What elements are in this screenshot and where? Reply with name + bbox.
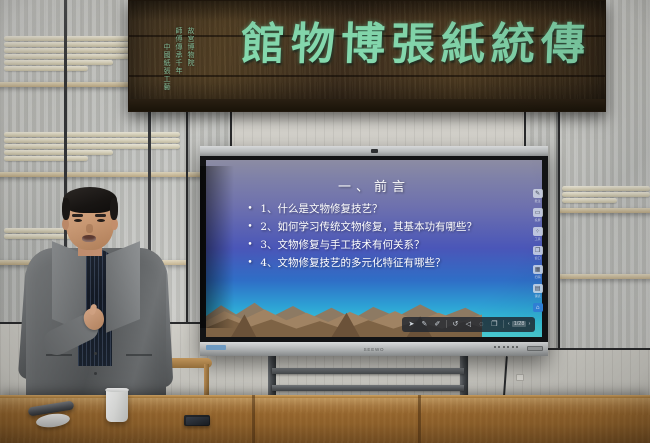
bullet-text: 2、如何学习传统文物修复，其基本功有哪些？ [260, 219, 522, 236]
side-toolbar-label: 投屏 [535, 218, 541, 222]
jacket-lapel-right [106, 241, 140, 333]
window-icon[interactable]: ❐ [533, 246, 543, 255]
presentation-slide[interactable]: 一、前言 • 1、什么是文物修复技艺？ • 2、如何学习传统文物修复，其基本功有… [206, 160, 542, 337]
table-reflection [0, 398, 650, 414]
paper-roll [4, 66, 89, 71]
wall-socket[interactable] [516, 374, 524, 381]
chair-arm-right [204, 364, 209, 398]
side-toolbar-item-cast[interactable]: ▭ 投屏 [532, 208, 543, 222]
smartphone[interactable] [184, 415, 210, 426]
paper-cup[interactable] [106, 388, 128, 422]
presenter-hair-side-right [110, 198, 118, 220]
side-toolbar-label: 扫码 [535, 275, 541, 279]
whiteboard-side-toolbar[interactable]: ✎ 批注 ▭ 投屏 ⁘ 工具 ❐ 窗口 ▦ 扫码 [532, 189, 543, 312]
cabinet-shelf [558, 208, 650, 213]
paper-roll [562, 186, 650, 191]
paper-roll [4, 132, 181, 137]
screen-icon[interactable]: ▭ [533, 208, 543, 217]
conference-table [0, 395, 650, 443]
presenter-eyebrow-left [72, 214, 83, 217]
status-led [512, 346, 514, 348]
toolbar-divider [503, 320, 504, 328]
whiteboard-bottom-bezel: SEEWO [200, 342, 548, 356]
slide-bullet-item: • 4、文物修复技艺的多元化特征有哪些？ [246, 255, 522, 272]
slide-bullet-item: • 3、文物修复与手工技术有何关系？ [246, 237, 522, 254]
side-toolbar-item-schedule[interactable]: ▤ 课表 [532, 284, 543, 298]
status-led [494, 346, 496, 348]
whiteboard-brand-label: SEEWO [364, 347, 385, 352]
next-page-button[interactable]: › [528, 321, 530, 327]
table-panel-seam [252, 395, 255, 443]
slide-bullet-item: • 2、如何学习传统文物修复，其基本功有哪些？ [246, 219, 522, 236]
status-led-group [494, 346, 519, 348]
paper-roll [562, 198, 617, 203]
jacket-button [94, 372, 97, 375]
jacket-button [94, 352, 97, 355]
presenter-mouth [82, 235, 96, 242]
presenter-nose [86, 224, 93, 233]
presenter-eye-right [97, 219, 105, 222]
home-icon[interactable]: ⌂ [533, 303, 543, 312]
inscription-column: 中國紙張工藝 [163, 43, 171, 91]
status-led [503, 346, 505, 348]
lecture-room-scene: 館物博張紙統傳 故宮博物院 師傅傳承千年 中國紙張工藝 一、前言 • 1、什么是… [0, 0, 650, 443]
undo-icon[interactable]: ↺ [451, 320, 460, 329]
paper-roll [4, 156, 89, 161]
presenter-torso [22, 248, 170, 410]
side-toolbar-label: 批注 [535, 199, 541, 203]
presenter-eyebrow-right [95, 214, 106, 217]
pen-icon[interactable]: ✎ [420, 320, 429, 329]
table-panel-seam [418, 395, 421, 443]
paper-roll [562, 192, 650, 197]
bullet-text: 1、什么是文物修复技艺？ [260, 201, 522, 218]
qrcode-icon[interactable]: ▦ [533, 265, 543, 274]
plaque-bottom-lip [128, 99, 606, 111]
capture-icon[interactable]: ❐ [490, 320, 499, 329]
museum-name-plaque: 館物博張紙統傳 故宮博物院 師傅傳承千年 中國紙張工藝 [128, 0, 606, 112]
prev-page-button[interactable]: ‹ [508, 321, 510, 327]
whiteboard-stand-rail-upper [272, 368, 464, 374]
bullet-marker-icon: • [246, 219, 260, 236]
camera-icon [371, 149, 378, 153]
pen-tool-icon[interactable]: ✎ [533, 189, 543, 198]
paper-roll [4, 150, 114, 155]
slide-bullet-item: • 1、什么是文物修复技艺？ [246, 201, 522, 218]
plaque-main-calligraphy: 館物博張紙統傳 [240, 19, 592, 71]
status-led [516, 346, 518, 348]
toolbar-divider [446, 320, 447, 328]
paper-roll-stack [4, 132, 181, 162]
presenter [22, 186, 170, 410]
cup-rim [105, 388, 129, 392]
cursor-icon[interactable]: ➤ [407, 320, 416, 329]
whiteboard-top-bezel [200, 146, 548, 156]
slide-bullet-list: • 1、什么是文物修复技艺？ • 2、如何学习传统文物修复，其基本功有哪些？ •… [246, 201, 522, 273]
whiteboard-stand-rail-lower [272, 385, 464, 391]
side-toolbar-label: 课表 [535, 294, 541, 298]
presenter-hair-side-left [62, 198, 70, 220]
bullet-text: 3、文物修复与手工技术有何关系？ [260, 237, 522, 254]
paper-roll [4, 144, 181, 149]
bullet-marker-icon: • [246, 201, 260, 218]
interactive-whiteboard[interactable]: 一、前言 • 1、什么是文物修复技艺？ • 2、如何学习传统文物修复，其基本功有… [200, 146, 548, 356]
page-navigator[interactable]: ‹ 1/28 › [508, 321, 530, 327]
side-toolbar-item-annotate[interactable]: ✎ 批注 [532, 189, 543, 203]
plaque-plank-seam [129, 75, 605, 77]
side-toolbar-label: 窗口 [535, 256, 541, 260]
side-toolbar-item-tools[interactable]: ⁘ 工具 [532, 227, 543, 241]
shapes-icon[interactable]: ◁ [464, 320, 473, 329]
paper-roll-stack [562, 186, 650, 204]
phone-screen[interactable] [186, 417, 209, 425]
bullet-marker-icon: • [246, 255, 260, 272]
cabinet-shelf [558, 274, 650, 279]
whiteboard-screen-frame: 一、前言 • 1、什么是文物修复技艺？ • 2、如何学习传统文物修复，其基本功有… [200, 156, 548, 342]
jacket-pocket-right [126, 354, 152, 356]
presenter-eye-left [74, 219, 82, 222]
side-toolbar-item-window[interactable]: ❐ 窗口 [532, 246, 543, 260]
inscription-column: 故宮博物院 [187, 27, 195, 91]
cabinet-shelf [0, 172, 188, 177]
side-toolbar-label: 工具 [535, 237, 541, 241]
paper-roll [4, 138, 181, 143]
slide-title: 一、前言 [206, 176, 542, 195]
select-icon[interactable]: ◌ [477, 320, 486, 329]
status-led [507, 346, 509, 348]
presenter-hair [63, 187, 117, 213]
side-toolbar-item-home[interactable]: ⌂ [532, 303, 543, 312]
usb-port[interactable] [527, 346, 543, 351]
highlighter-icon[interactable]: ✐ [433, 320, 442, 329]
bullet-marker-icon: • [246, 237, 260, 254]
inscription-column: 師傅傳承千年 [175, 27, 183, 91]
side-toolbar-item-qrcode[interactable]: ▦ 扫码 [532, 265, 543, 279]
apps-icon[interactable]: ⁘ [533, 227, 543, 236]
bullet-text: 4、文物修复技艺的多元化特征有哪些？ [260, 255, 522, 272]
page-indicator: 1/28 [512, 321, 527, 327]
status-led [498, 346, 500, 348]
slide-annotation-toolbar[interactable]: ➤ ✎ ✐ ↺ ◁ ◌ ❐ ‹ 1/28 › [402, 317, 535, 332]
calendar-icon[interactable]: ▤ [533, 284, 543, 293]
plaque-inscription: 故宮博物院 師傅傳承千年 中國紙張工藝 [163, 27, 195, 91]
brand-badge [206, 345, 226, 350]
paper-roll [4, 60, 114, 65]
